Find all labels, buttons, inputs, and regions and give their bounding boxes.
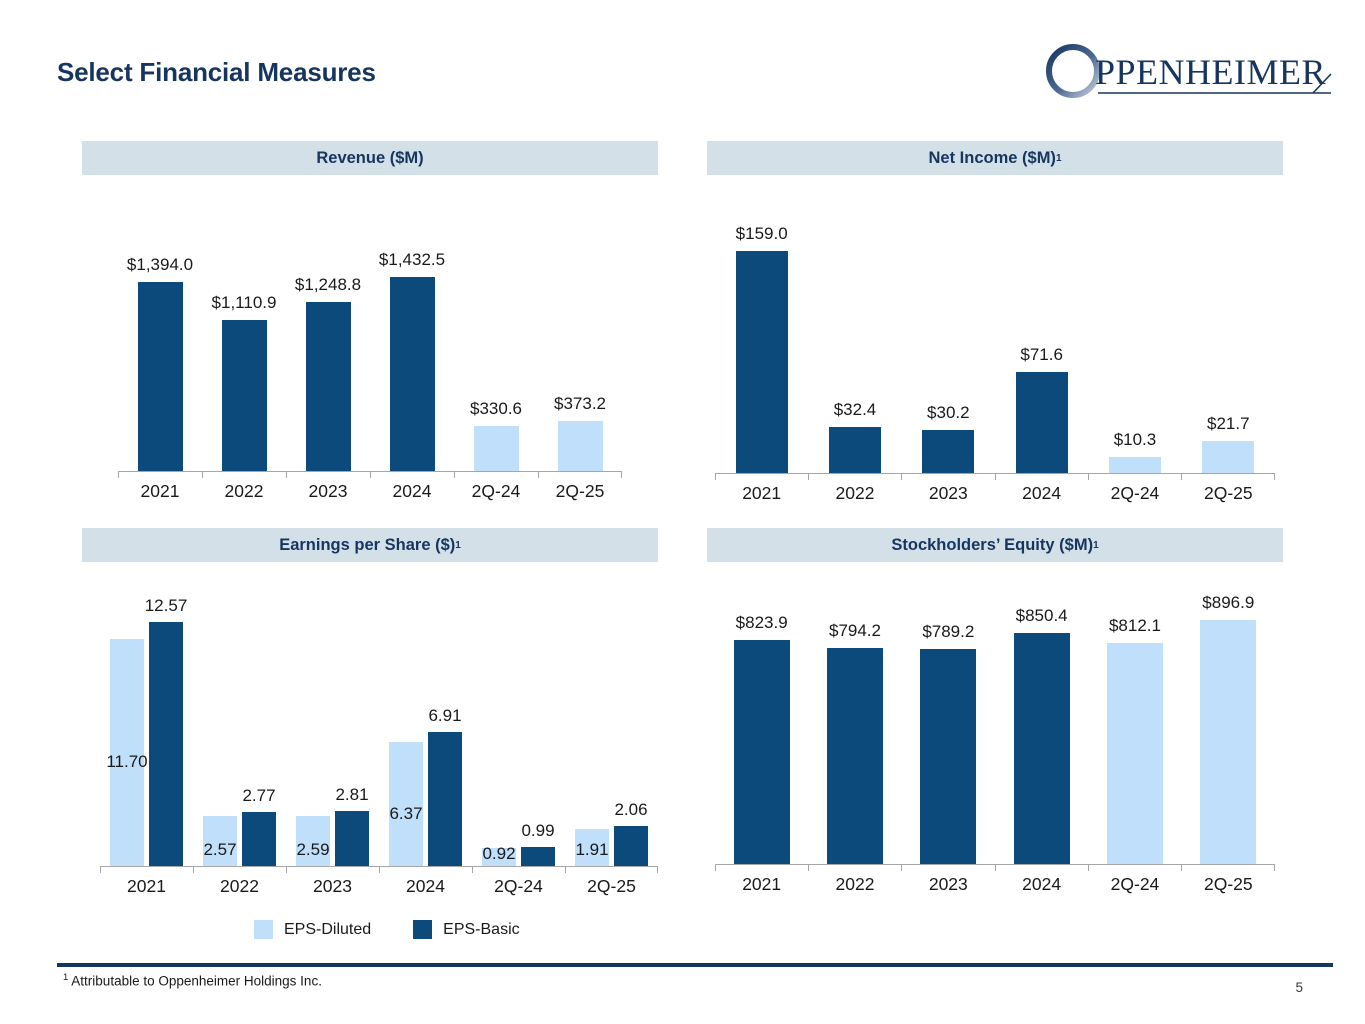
x-axis-ticks <box>118 472 622 478</box>
bar-pair: 6.37 6.91 <box>389 602 462 866</box>
bar[interactable]: $896.9 <box>1200 620 1256 864</box>
bar-category-2024: $1,432.5 <box>370 231 454 471</box>
bar-value-label: 2.81 <box>335 785 368 805</box>
bar-diluted[interactable]: 2.57 <box>203 816 237 866</box>
x-tick-label: 2024 <box>370 481 454 502</box>
x-axis-labels-net-income: 2021 2022 2023 2024 2Q-24 2Q-25 <box>715 483 1275 504</box>
bar-value-label: 2.57 <box>203 840 236 860</box>
bar-value-label: $1,432.5 <box>379 250 445 270</box>
bar[interactable]: $1,248.8 <box>306 302 351 471</box>
x-tick-label: 2024 <box>379 876 472 897</box>
bar-basic[interactable]: 12.57 <box>149 622 183 866</box>
bar-category-2024: $850.4 <box>995 594 1088 864</box>
bar-value-label: $1,248.8 <box>295 275 361 295</box>
chart-panel-eps: Earnings per Share ($)1 11.70 12.57 <box>82 528 658 948</box>
bar-basic[interactable]: 2.81 <box>335 811 369 866</box>
plot-area-net-income: $159.0 $32.4 $30.2 $71.6 <box>715 231 1275 473</box>
x-axis-labels-stockholders-equity: 2021 2022 2023 2024 2Q-24 2Q-25 <box>715 874 1275 895</box>
chart-panel-stockholders-equity: Stockholders’ Equity ($M)1 $823.9 $794.2… <box>707 528 1283 928</box>
bar-value-label: $373.2 <box>554 394 606 414</box>
x-tick-label: 2Q-24 <box>1088 874 1181 895</box>
bar[interactable]: $10.3 <box>1109 457 1161 473</box>
footnote-text: Attributable to Oppenheimer Holdings Inc… <box>68 974 322 989</box>
bar-diluted[interactable]: 0.92 <box>482 848 516 866</box>
bar-value-label: 6.91 <box>428 706 461 726</box>
bar-category-2q24: $10.3 <box>1088 231 1181 473</box>
chart-title-text: Stockholders’ Equity ($M) <box>891 536 1093 555</box>
bar-pair: 0.92 0.99 <box>482 602 555 866</box>
x-tick-label: 2021 <box>100 876 193 897</box>
chart-title-stockholders-equity: Stockholders’ Equity ($M)1 <box>707 528 1283 562</box>
chart-panel-net-income: Net Income ($M)1 $159.0 $32.4 $30.2 <box>707 141 1283 511</box>
chart-title-eps: Earnings per Share ($)1 <box>82 528 658 562</box>
bar-basic[interactable]: 2.77 <box>242 812 276 866</box>
chart-panel-revenue: Revenue ($M) $1,394.0 $1,110.9 $1,248.8 <box>82 141 658 511</box>
bar-category-2024: 6.37 6.91 <box>379 602 472 866</box>
legend-item-eps-diluted[interactable]: EPS-Diluted <box>254 920 371 939</box>
bar-category-2023: $789.2 <box>902 594 995 864</box>
bar-pair: 2.57 2.77 <box>203 602 276 866</box>
bar-category-2q25: 1.91 2.06 <box>565 602 658 866</box>
footer-divider <box>57 963 1333 967</box>
chart-title-superscript: 1 <box>1093 540 1099 551</box>
bar[interactable]: $1,432.5 <box>390 277 435 471</box>
plot-area-stockholders-equity: $823.9 $794.2 $789.2 $850.4 <box>715 594 1275 864</box>
x-tick-label: 2022 <box>808 874 901 895</box>
bar-value-label: $896.9 <box>1202 593 1254 613</box>
bar-diluted[interactable]: 11.70 <box>110 639 144 866</box>
x-tick-label: 2023 <box>902 874 995 895</box>
bar-value-label: $1,394.0 <box>127 255 193 275</box>
bar-category-2024: $71.6 <box>995 231 1088 473</box>
bar[interactable]: $850.4 <box>1014 633 1070 864</box>
bar-group-eps: 11.70 12.57 2.57 2.77 <box>100 602 658 866</box>
bar-category-2q25: $21.7 <box>1182 231 1275 473</box>
bar-category-2022: $794.2 <box>808 594 901 864</box>
bar-value-label: 2.06 <box>614 800 647 820</box>
svg-text:PPENHEIMER: PPENHEIMER <box>1095 52 1326 92</box>
x-tick-label: 2021 <box>118 481 202 502</box>
bar[interactable]: $159.0 <box>736 251 788 473</box>
bar[interactable]: $32.4 <box>829 427 881 473</box>
x-tick-label: 2023 <box>902 483 995 504</box>
chart-title-text: Earnings per Share ($) <box>279 536 455 555</box>
chart-title-net-income: Net Income ($M)1 <box>707 141 1283 175</box>
chart-title-text: Revenue ($M) <box>316 149 423 168</box>
x-tick-label: 2023 <box>286 481 370 502</box>
bar-value-label: 0.99 <box>521 821 554 841</box>
chart-title-revenue: Revenue ($M) <box>82 141 658 175</box>
bar-category-2022: 2.57 2.77 <box>193 602 286 866</box>
bar-category-2q24: 0.92 0.99 <box>472 602 565 866</box>
x-tick-label: 2Q-25 <box>1182 874 1275 895</box>
bar-value-label: $21.7 <box>1207 414 1250 434</box>
bar-value-label: $71.6 <box>1020 345 1063 365</box>
bar-category-2023: $30.2 <box>902 231 995 473</box>
x-tick-label: 2Q-24 <box>454 481 538 502</box>
chart-title-text: Net Income ($M) <box>929 149 1056 168</box>
bar-category-2021: $823.9 <box>715 594 808 864</box>
bar[interactable]: $30.2 <box>922 430 974 473</box>
bar-diluted[interactable]: 2.59 <box>296 816 330 866</box>
bar-group-net-income: $159.0 $32.4 $30.2 $71.6 <box>715 231 1275 473</box>
bar-value-label: 2.77 <box>242 786 275 806</box>
bar-value-label: 11.70 <box>106 752 147 772</box>
bar-value-label: $1,110.9 <box>212 293 277 313</box>
bar-category-2q25: $896.9 <box>1182 594 1275 864</box>
bar-group-revenue: $1,394.0 $1,110.9 $1,248.8 $1,432.5 <box>118 231 622 471</box>
bar-basic[interactable]: 0.99 <box>521 847 555 866</box>
bar-category-2q25: $373.2 <box>538 231 622 471</box>
oppenheimer-logo: PPENHEIMER <box>1043 44 1333 106</box>
bar-basic[interactable]: 2.06 <box>614 826 648 866</box>
legend-label: EPS-Diluted <box>284 921 371 939</box>
x-tick-label: 2Q-25 <box>1182 483 1275 504</box>
bar-category-2022: $1,110.9 <box>202 231 286 471</box>
chart-legend-eps: EPS-Diluted EPS-Basic <box>254 920 520 939</box>
bar[interactable]: $1,394.0 <box>138 282 183 471</box>
legend-swatch-icon <box>413 920 432 939</box>
bar-value-label: $330.6 <box>470 399 522 419</box>
x-tick-label: 2021 <box>715 874 808 895</box>
plot-area-eps: 11.70 12.57 2.57 2.77 <box>100 602 658 866</box>
footnote: 1 Attributable to Oppenheimer Holdings I… <box>63 972 322 989</box>
x-axis-ticks <box>715 865 1275 871</box>
x-tick-label: 2022 <box>808 483 901 504</box>
bar-diluted[interactable]: 6.37 <box>389 742 423 866</box>
x-tick-label: 2Q-24 <box>1088 483 1181 504</box>
x-tick-label: 2Q-25 <box>565 876 658 897</box>
bar-pair: 1.91 2.06 <box>575 602 648 866</box>
x-tick-label: 2024 <box>995 483 1088 504</box>
x-axis-ticks <box>715 474 1275 480</box>
bar-category-2023: $1,248.8 <box>286 231 370 471</box>
bar-pair: 2.59 2.81 <box>296 602 369 866</box>
bar-value-label: $850.4 <box>1016 606 1068 626</box>
bar-category-2022: $32.4 <box>808 231 901 473</box>
x-axis-labels-revenue: 2021 2022 2023 2024 2Q-24 2Q-25 <box>118 481 622 502</box>
bar-value-label: $32.4 <box>834 400 877 420</box>
slide: Select Financial Measures PPENHEIMER Rev… <box>0 0 1365 1024</box>
bar-group-stockholders-equity: $823.9 $794.2 $789.2 $850.4 <box>715 594 1275 864</box>
x-tick-label: 2Q-24 <box>472 876 565 897</box>
bar-value-label: 6.37 <box>389 804 422 824</box>
bar-value-label: $159.0 <box>736 224 788 244</box>
bar[interactable]: $21.7 <box>1202 441 1254 473</box>
bar[interactable]: $794.2 <box>827 648 883 864</box>
bar-basic[interactable]: 6.91 <box>428 732 462 866</box>
x-tick-label: 2022 <box>202 481 286 502</box>
bar-value-label: $30.2 <box>927 403 970 423</box>
bar-value-label: $794.2 <box>829 621 881 641</box>
bar[interactable]: $71.6 <box>1016 372 1068 473</box>
bar[interactable]: $789.2 <box>920 649 976 864</box>
legend-label: EPS-Basic <box>443 921 519 939</box>
bar-category-2021: $159.0 <box>715 231 808 473</box>
bar[interactable]: $823.9 <box>734 640 790 864</box>
bar-category-2023: 2.59 2.81 <box>286 602 379 866</box>
x-axis-labels-eps: 2021 2022 2023 2024 2Q-24 2Q-25 <box>100 876 658 897</box>
bar-diluted[interactable]: 1.91 <box>575 829 609 866</box>
bar-category-2q24: $330.6 <box>454 231 538 471</box>
bar-value-label: $10.3 <box>1114 430 1157 450</box>
bar[interactable]: $373.2 <box>558 421 603 471</box>
bar-value-label: 1.91 <box>575 840 608 860</box>
x-axis-ticks <box>100 867 658 873</box>
page-title: Select Financial Measures <box>57 57 376 88</box>
bar-category-2q24: $812.1 <box>1088 594 1181 864</box>
bar[interactable]: $330.6 <box>474 426 519 471</box>
legend-item-eps-basic[interactable]: EPS-Basic <box>413 920 519 939</box>
bar-value-label: $789.2 <box>922 622 974 642</box>
bar-value-label: 2.59 <box>296 840 329 860</box>
x-tick-label: 2Q-25 <box>538 481 622 502</box>
bar-value-label: $812.1 <box>1109 616 1161 636</box>
plot-area-revenue: $1,394.0 $1,110.9 $1,248.8 $1,432.5 <box>118 231 622 471</box>
bar[interactable]: $812.1 <box>1107 643 1163 864</box>
x-tick-label: 2023 <box>286 876 379 897</box>
bar-category-2021: $1,394.0 <box>118 231 202 471</box>
bar[interactable]: $1,110.9 <box>222 320 267 471</box>
page-number: 5 <box>1295 980 1303 995</box>
x-tick-label: 2024 <box>995 874 1088 895</box>
bar-value-label: 12.57 <box>145 596 188 616</box>
bar-pair: 11.70 12.57 <box>110 602 183 866</box>
bar-value-label: $823.9 <box>736 613 788 633</box>
chart-title-superscript: 1 <box>455 540 461 551</box>
chart-title-superscript: 1 <box>1056 153 1062 164</box>
bar-value-label: 0.92 <box>482 844 515 864</box>
x-tick-label: 2022 <box>193 876 286 897</box>
legend-swatch-icon <box>254 920 273 939</box>
bar-category-2021: 11.70 12.57 <box>100 602 193 866</box>
x-tick-label: 2021 <box>715 483 808 504</box>
